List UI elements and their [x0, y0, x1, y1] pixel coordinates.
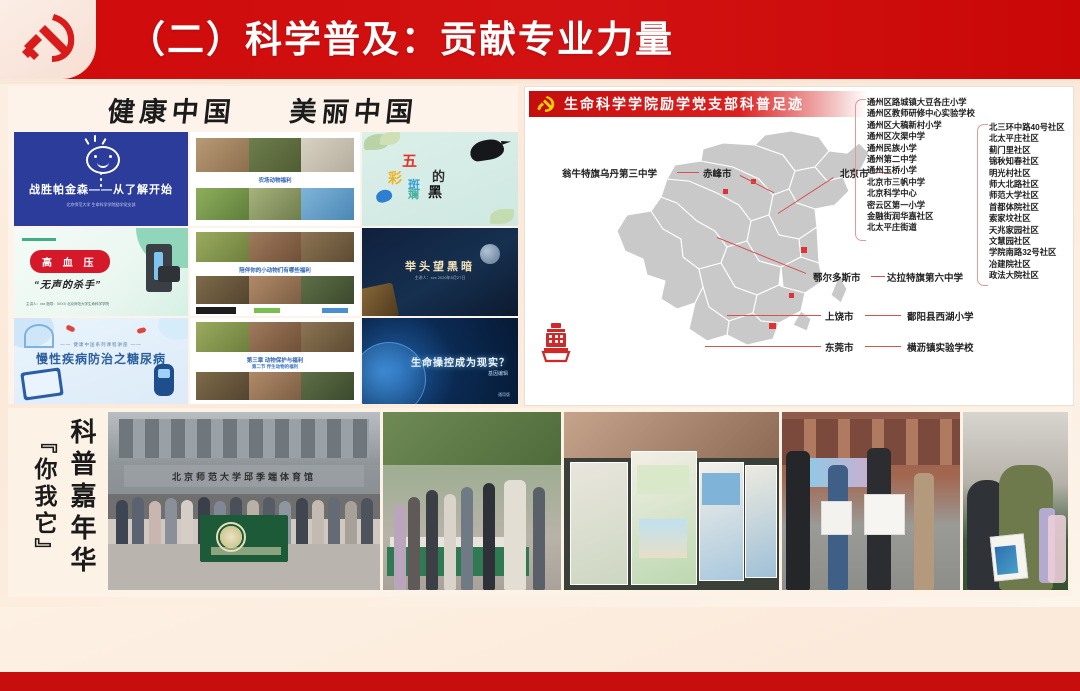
hammer-sickle-party-emblem-icon — [535, 95, 557, 113]
glucose-meter-icon — [154, 364, 174, 396]
vertical-title-sub: 『你我它』 — [26, 430, 60, 565]
map-title-bar: 生命科学学院励学党支部科普足迹 — [529, 91, 867, 117]
beijing-school-item: 金融街润华嘉社区 — [867, 211, 975, 222]
card-subtitle: 基因编辑 — [488, 370, 508, 377]
science-gallery-panel: 健康中国 美丽中国 战胜帕金森——从了解开始 北京师范大学 生命科学学院励学党支… — [8, 86, 518, 404]
photo-group-photo[interactable]: 北京师范大学邱季端体育馆 — [108, 412, 380, 590]
tablet-device-icon — [20, 367, 64, 400]
card-char-5: 黑 — [428, 182, 442, 202]
community-item: 政法大院社区 — [989, 270, 1065, 281]
beijing-school-item: 密云区第一小学 — [867, 200, 975, 211]
community-item: 冶建院社区 — [989, 259, 1065, 270]
route-city-ordos: 鄂尔多斯市 — [813, 270, 861, 284]
community-item: 锦秋知春社区 — [989, 156, 1065, 167]
route-school-shangrao: 鄱阳县西湖小学 — [907, 309, 974, 323]
smiley-face-icon — [86, 146, 120, 174]
gallery-heading: 健康中国 美丽中国 — [8, 90, 518, 132]
beijing-school-item: 北京科学中心 — [867, 188, 975, 199]
tiananmen-gate-icon — [539, 321, 573, 363]
beijing-schools-brace — [855, 99, 866, 241]
photo-child-craft-activity[interactable] — [963, 412, 1068, 590]
beijing-schools-list: 通州区路城镇大豆各庄小学通州区教师研修中心实验学校通州区大稿新村小学通州区次渠中… — [867, 97, 975, 234]
vertical-title-main: 科普嘉年华 — [63, 418, 100, 578]
community-item: 北三环中路40号社区 — [989, 122, 1065, 133]
gallery-card-night-sky[interactable]: 举头望黑暗 主讲人：xxx 2020年5月27日 — [362, 228, 518, 316]
beijing-school-item: 通州区路城镇大豆各庄小学 — [867, 97, 975, 108]
community-item: 天兆家园社区 — [989, 225, 1065, 236]
communities-brace — [977, 124, 988, 286]
card-title: 举头望黑暗 — [362, 258, 518, 274]
card-subtitle: 北京师范大学 生命科学学院励学党支部 — [29, 202, 173, 208]
map-panel: 生命科学学院励学党支部科普足迹 — [524, 86, 1074, 406]
gallery-card-farm-animal-welfare[interactable]: 农场动物福利 — [190, 132, 360, 226]
gallery-grid: 战胜帕金森——从了解开始 北京师范大学 生命科学学院励学党支部 农场动物福利 — [14, 132, 514, 400]
community-item: 首都体院社区 — [989, 202, 1065, 213]
route-city-dongguan: 东莞市 — [825, 340, 854, 354]
community-item: 学院南路32号社区 — [989, 247, 1065, 258]
community-item: 蓟门里社区 — [989, 145, 1065, 156]
slide-body: 健康中国 美丽中国 战胜帕金森——从了解开始 北京师范大学 生命科学学院励学党支… — [0, 84, 1080, 607]
card-char-0: 五 — [402, 150, 417, 171]
gallery-card-colorful-black[interactable]: 五 彩 斑 斓 的 黑 — [362, 132, 518, 226]
card-caption-2: 第二节 伴生动物的福利 — [190, 364, 360, 370]
beijing-school-item: 北太平庄街道 — [867, 222, 975, 233]
beijing-school-item: 通州民族小学 — [867, 143, 975, 154]
card-caption: 农场动物福利 — [190, 176, 360, 184]
community-item: 师范大学社区 — [989, 190, 1065, 201]
beijing-school-item: 通州区次渠中学 — [867, 131, 975, 142]
community-item: 文慧园社区 — [989, 236, 1065, 247]
footer-bar — [0, 672, 1080, 691]
beijing-school-item: 通州玉桥小学 — [867, 165, 975, 176]
banner-flag — [200, 515, 287, 561]
card-footnote: 通用版 — [498, 392, 510, 398]
photo-row: 北京师范大学邱季端体育馆 — [108, 412, 1068, 590]
beijing-school-item: 通州第二中学 — [867, 154, 975, 165]
page-header: （二）科学普及：贡献专业力量 — [0, 0, 1080, 79]
photo-booth-visitors[interactable] — [383, 412, 561, 590]
map-title: 生命科学学院励学党支部科普足迹 — [564, 94, 804, 114]
photo-band: 科普嘉年华 『你我它』 北京师范大学邱季端体育馆 — [8, 408, 1072, 597]
hammer-sickle-party-emblem-icon — [14, 10, 86, 68]
card-subtitle: “无声的杀手” — [34, 276, 101, 291]
card-pill-label: 高 血 压 — [30, 250, 110, 273]
card-char-3: 斓 — [408, 186, 419, 202]
page-title: （二）科学普及：贡献专业力量 — [128, 6, 674, 74]
beijing-school-item: 通州区大稿新村小学 — [867, 120, 975, 131]
community-item: 明光村社区 — [989, 168, 1065, 179]
card-superscript: —— 健康中国系列课程讲座 —— — [14, 342, 188, 348]
community-item: 北太平庄社区 — [989, 133, 1065, 144]
gallery-heading-right: 美丽中国 — [288, 90, 420, 129]
card-caption: 陪伴你的小动物们有哪些福利 — [190, 266, 360, 274]
route-city-chifeng: 赤峰市 — [703, 166, 732, 180]
gallery-heading-left: 健康中国 — [105, 90, 237, 129]
route-city-shangrao: 上饶市 — [825, 309, 854, 323]
photo-poster-display[interactable] — [564, 412, 779, 590]
community-item: 师大北路社区 — [989, 179, 1065, 190]
gallery-card-hypertension[interactable]: 高 血 压 “无声的杀手” 主讲人：xxx 指导：XXXX 北京师范大学生命科学… — [14, 228, 188, 316]
card-title: 生命操控成为现实？ — [411, 354, 510, 369]
card-caption: 第三章 动物保护与福利 — [190, 356, 360, 364]
bp-cuff-icon — [158, 266, 180, 282]
beijing-school-item: 北京市三帆中学 — [867, 177, 975, 188]
vertical-title-block: 科普嘉年华 『你我它』 — [12, 414, 106, 590]
route-school-ordos: 达拉特旗第六中学 — [887, 270, 963, 284]
gallery-card-life-control[interactable]: 生命操控成为现实？ 基因编辑 通用版 — [362, 318, 518, 404]
community-item: 索家坟社区 — [989, 213, 1065, 224]
gallery-card-animal-protection-chapter[interactable]: 第三章 动物保护与福利 第二节 伴生动物的福利 — [190, 318, 360, 404]
flag-text — [211, 547, 281, 555]
butterfly-icon — [375, 188, 394, 204]
beijing-school-item: 通州区教师研修中心实验学校 — [867, 108, 975, 119]
gallery-card-parkinson[interactable]: 战胜帕金森——从了解开始 北京师范大学 生命科学学院励学党支部 — [14, 132, 188, 226]
communities-list: 北三环中路40号社区北太平庄社区蓟门里社区锦秋知春社区明光村社区师大北路社区师范… — [989, 122, 1065, 282]
photo-students-reading-booklets[interactable] — [782, 412, 960, 590]
card-subtitle: 主讲人：xxx 2020年5月27日 — [362, 274, 518, 281]
globe-icon — [362, 342, 426, 404]
gallery-card-diabetes[interactable]: —— 健康中国系列课程讲座 —— 慢性疾病防治之糖尿病 — [14, 318, 188, 404]
route-school-dongguan: 横沥镇实验学校 — [907, 340, 974, 354]
route-school-chifeng: 翁牛特旗乌丹第三中学 — [562, 166, 657, 180]
gallery-card-companion-animal-welfare[interactable]: 陪伴你的小动物们有哪些福利 — [190, 228, 360, 316]
crow-icon — [469, 138, 505, 163]
card-title: 战胜帕金森——从了解开始 — [29, 181, 173, 197]
card-footnote: 主讲人：xxx 指导：XXXX 北京师范大学生命科学学院 — [26, 302, 109, 308]
card-char-1: 彩 — [388, 168, 402, 188]
